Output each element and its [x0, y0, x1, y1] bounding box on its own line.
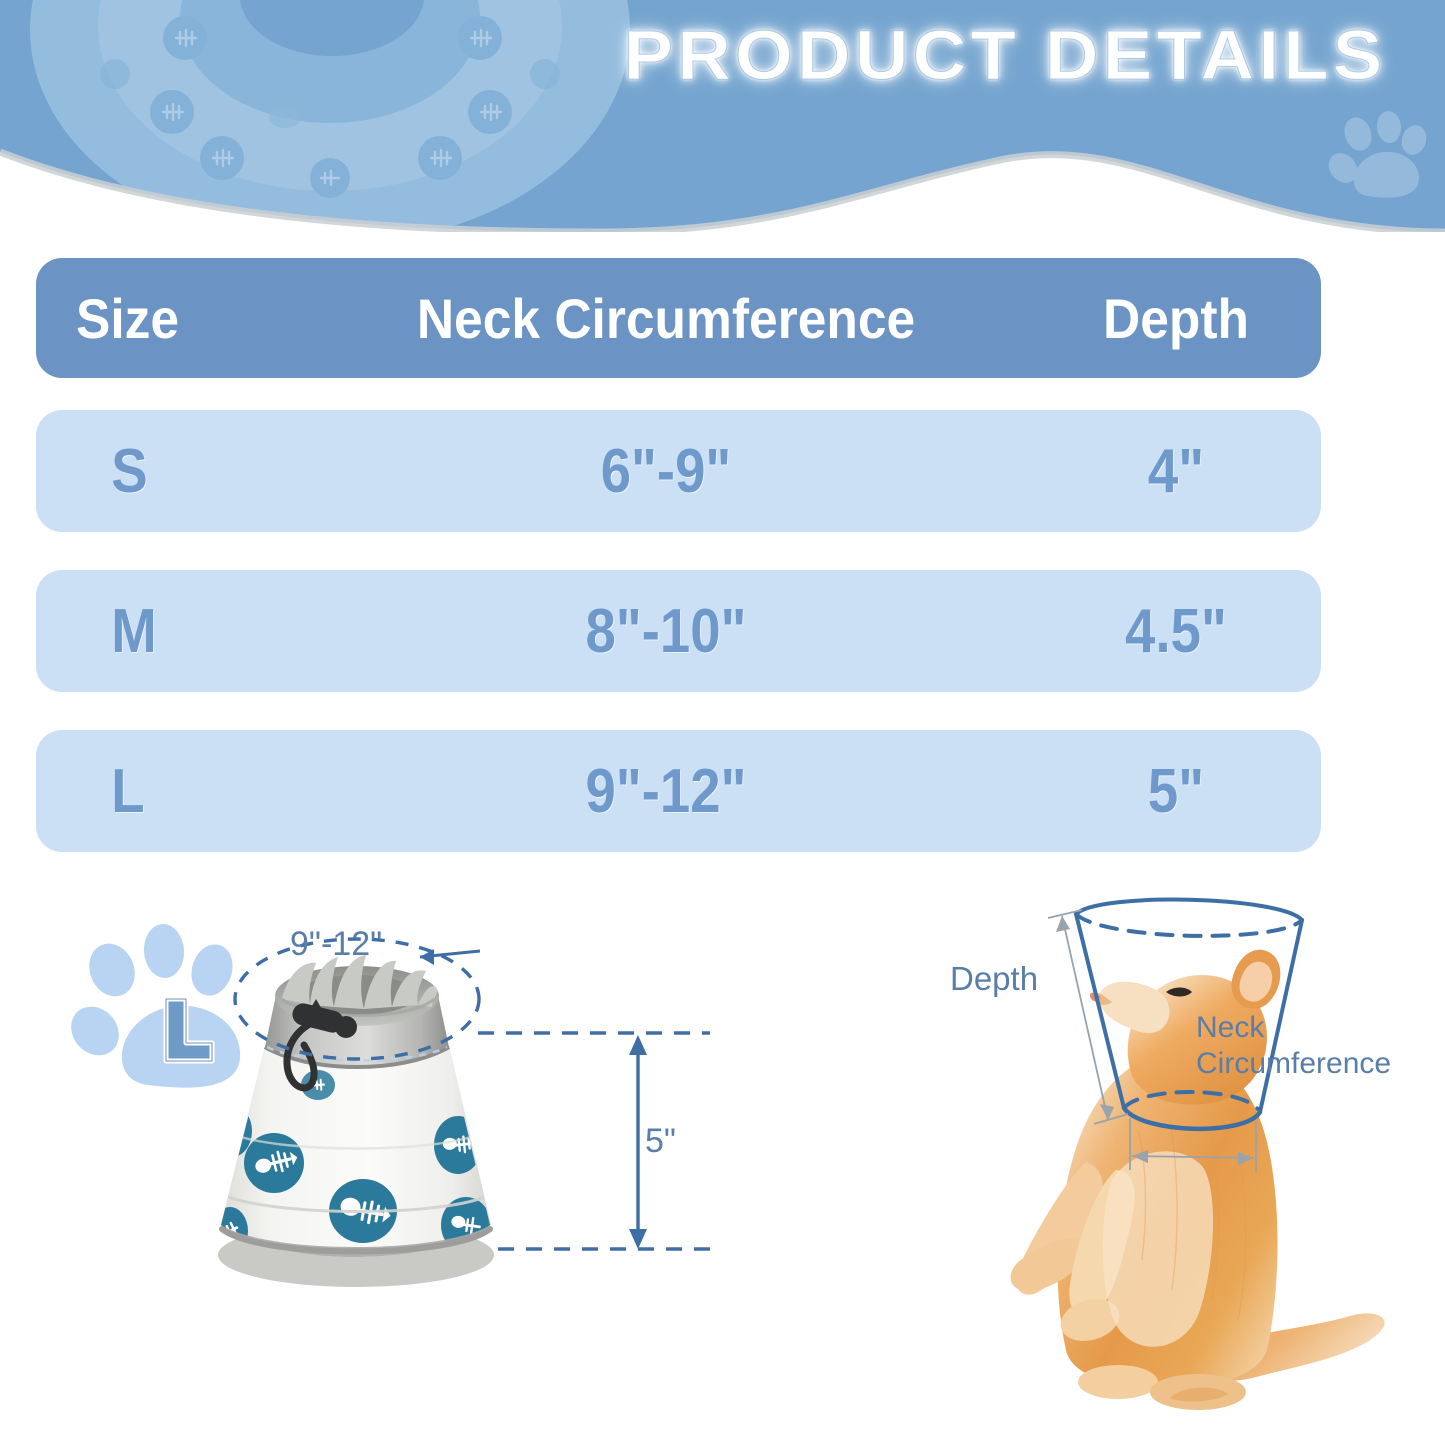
- table-row: M 8"-10" 4.5": [36, 570, 1321, 692]
- table-header-row: Size Neck Circumference Depth: [36, 258, 1321, 378]
- cat-neck-label-line1: Neck: [1196, 1010, 1391, 1046]
- column-header-depth: Depth: [1047, 258, 1305, 378]
- cell-size: M: [76, 570, 331, 692]
- cone-body: [210, 955, 510, 1287]
- cat-depth-label: Depth: [950, 960, 1038, 998]
- cell-size: L: [76, 730, 331, 852]
- cat-neck-label-line2: Circumference: [1196, 1046, 1391, 1082]
- cell-neck: 6"-9": [332, 410, 1001, 532]
- cell-size: S: [76, 410, 331, 532]
- size-badge-paw-icon: [61, 923, 240, 1088]
- cell-depth: 4": [1053, 410, 1299, 532]
- size-chart-table: Size Neck Circumference Depth S 6"-9" 4"…: [36, 258, 1321, 890]
- header-banner: PRODUCT DETAILS: [0, 0, 1445, 232]
- product-neck-dimension-label: 9"-12": [290, 925, 382, 964]
- page-title: PRODUCT DETAILS: [549, 12, 1445, 98]
- cell-neck: 9"-12": [332, 730, 1001, 852]
- column-header-size: Size: [76, 258, 306, 378]
- cat-hind-foot-left: [1078, 1365, 1158, 1399]
- cell-depth: 5": [1053, 730, 1299, 852]
- table-row: S 6"-9" 4": [36, 410, 1321, 532]
- cell-neck: 8"-10": [332, 570, 1001, 692]
- cat-neck-circumference-label: Neck Circumference: [1196, 1010, 1391, 1082]
- cell-depth: 4.5": [1053, 570, 1299, 692]
- table-row: L 9"-12" 5": [36, 730, 1321, 852]
- product-depth-dimension-label: 5": [645, 1122, 676, 1161]
- column-header-neck-circumference: Neck Circumference: [316, 258, 1015, 378]
